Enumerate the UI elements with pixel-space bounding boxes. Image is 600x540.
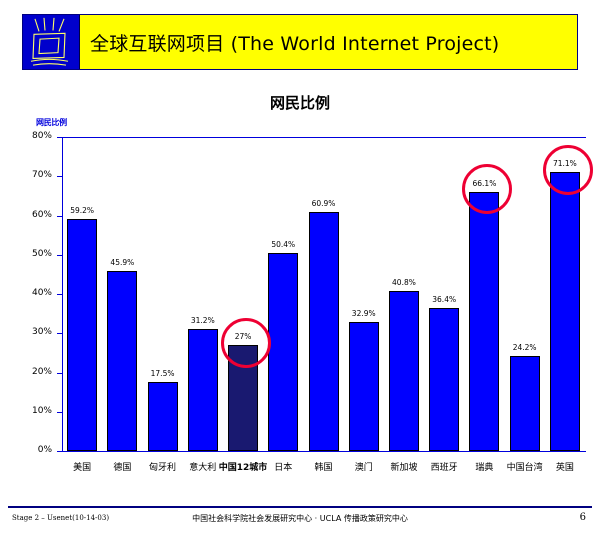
bar-slot: 60.9% [305,137,343,451]
bar[interactable] [389,291,419,451]
bar-value-label: 45.9% [95,258,149,267]
bar[interactable] [550,172,580,451]
y-axis-tick-label: 40% [12,288,52,298]
y-axis-tick-label: 20% [12,367,52,377]
footer-divider [8,506,592,508]
bar[interactable] [469,192,499,451]
bar[interactable] [67,219,97,451]
bar-slot: 40.8% [385,137,423,451]
bar-value-label: 40.8% [377,278,431,287]
y-axis-tick-label: 10% [12,406,52,416]
bar-slot: 50.4% [264,137,302,451]
slide-title-banner: 全球互联网项目 (The World Internet Project) [22,14,578,70]
bar-slot: 66.1% [465,137,503,451]
monitor-rays-icon [23,15,80,69]
bar-slot: 59.2% [63,137,101,451]
y-axis-tick [57,451,62,452]
bar[interactable] [107,271,137,451]
bar-slot: 31.2% [184,137,222,451]
bar[interactable] [349,322,379,451]
bar-slot: 71.1% [546,137,584,451]
footer-page-number: 6 [580,512,586,523]
bar-value-label: 36.4% [417,295,471,304]
bar-slot: 45.9% [103,137,141,451]
slide-title-bar: 全球互联网项目 (The World Internet Project) [80,15,577,69]
bar[interactable] [188,329,218,451]
bar-value-label: 59.2% [55,206,109,215]
y-axis-title: 网民比例 [36,117,67,128]
y-axis-tick-label: 70% [12,170,52,180]
bar-slot: 27% [224,137,262,451]
bar-value-label: 66.1% [457,179,511,188]
x-axis-category-label: 英国 [530,460,600,473]
bar-slot: 17.5% [144,137,182,451]
y-axis-tick-label: 60% [12,210,52,220]
y-axis-tick-label: 80% [12,131,52,141]
page-title: 全球互联网项目 (The World Internet Project) [90,29,499,56]
x-axis-line [62,451,586,452]
plot-area: 59.2%45.9%17.5%31.2%27%50.4%60.9%32.9%40… [62,137,585,451]
chart-region: 网民比例 网民比例 0%10%20%30%40%50%60%70%80% 59.… [0,76,600,501]
bar[interactable] [429,308,459,451]
bar-value-label: 50.4% [256,240,310,249]
bar-value-label: 17.5% [136,369,190,378]
chart-title: 网民比例 [0,92,600,113]
y-axis-tick-label: 30% [12,327,52,337]
bar[interactable] [510,356,540,451]
bar[interactable] [148,382,178,451]
bar-value-label: 60.9% [297,199,351,208]
bar-value-label: 71.1% [538,159,592,168]
y-axis-tick-label: 0% [12,445,52,455]
bar[interactable] [268,253,298,451]
bar[interactable] [309,212,339,451]
bar-slot: 24.2% [506,137,544,451]
bar-value-label: 32.9% [337,309,391,318]
bar-slot: 32.9% [345,137,383,451]
y-axis-tick-label: 50% [12,249,52,259]
bar-value-label: 27% [216,332,270,341]
footer-center-text: 中国社会科学院社会发展研究中心 · UCLA 传播政策研究中心 [0,513,600,524]
bar[interactable] [228,345,258,451]
bar-value-label: 24.2% [498,343,552,352]
bar-value-label: 31.2% [176,316,230,325]
